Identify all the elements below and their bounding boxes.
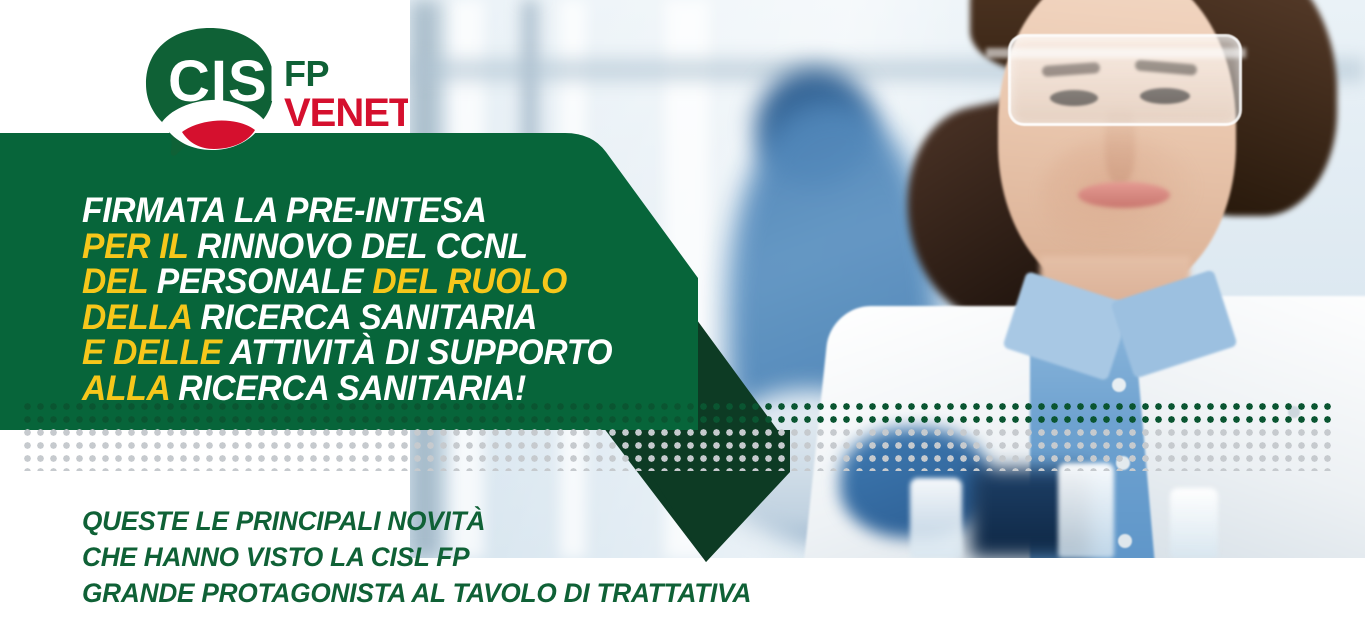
headline-run: ALLA [82,369,178,408]
shirt-button [1112,378,1126,392]
headline-line: FIRMATA LA PRE-INTESA [82,193,612,229]
headline-line: PER IL RINNOVO DEL CCNL [82,229,612,265]
headline-run: DELLA [82,298,200,337]
headline-line: DELLA RICERCA SANITARIA [82,300,612,336]
headline-run: DEL [82,262,157,301]
headline-run: ATTIVITÀ DI SUPPORTO [230,333,613,372]
lips [1078,182,1170,208]
window-mullion [665,0,709,558]
headline-run: E DELLE [82,333,230,372]
subtext-block: QUESTE LE PRINCIPALI NOVITÀCHE HANNO VIS… [82,503,751,611]
safety-goggles [1008,34,1242,126]
headline-run: PER IL [82,227,197,266]
shirt-button [1118,534,1132,548]
test-tube [1058,463,1114,558]
logo-federation: FP [284,53,329,94]
test-tube [910,478,962,558]
headline-line: E DELLE ATTIVITÀ DI SUPPORTO [82,335,612,371]
headline-run: RICERCA SANITARIA! [178,369,526,408]
headline-run: FIRMATA LA PRE-INTESA [82,191,487,230]
headline-run: DEL RUOLO [372,262,567,301]
headline-run: RICERCA SANITARIA [200,298,537,337]
subtext-line: CHE HANNO VISTO LA CISL FP [82,539,751,575]
logo-region: VENETO [284,91,408,135]
subtext-line: QUESTE LE PRINCIPALI NOVITÀ [82,503,751,539]
test-tube [1170,488,1218,558]
headline-line: ALLA RICERCA SANITARIA! [82,371,612,407]
subtext-line: GRANDE PROTAGONISTA AL TAVOLO DI TRATTAT… [82,575,751,611]
headline-run: PERSONALE [157,262,373,301]
cisl-fp-veneto-logo[interactable]: CISL FP VENETO [78,26,408,166]
poster-canvas: CISL FP VENETO FIRMATA LA PRE-INTESAPER … [0,0,1365,633]
halftone-square-grid-on-white [24,429,1334,471]
headline-run: RINNOVO DEL CCNL [197,227,528,266]
headline-line: DEL PERSONALE DEL RUOLO [82,264,612,300]
headline-block: FIRMATA LA PRE-INTESAPER IL RINNOVO DEL … [82,193,612,406]
